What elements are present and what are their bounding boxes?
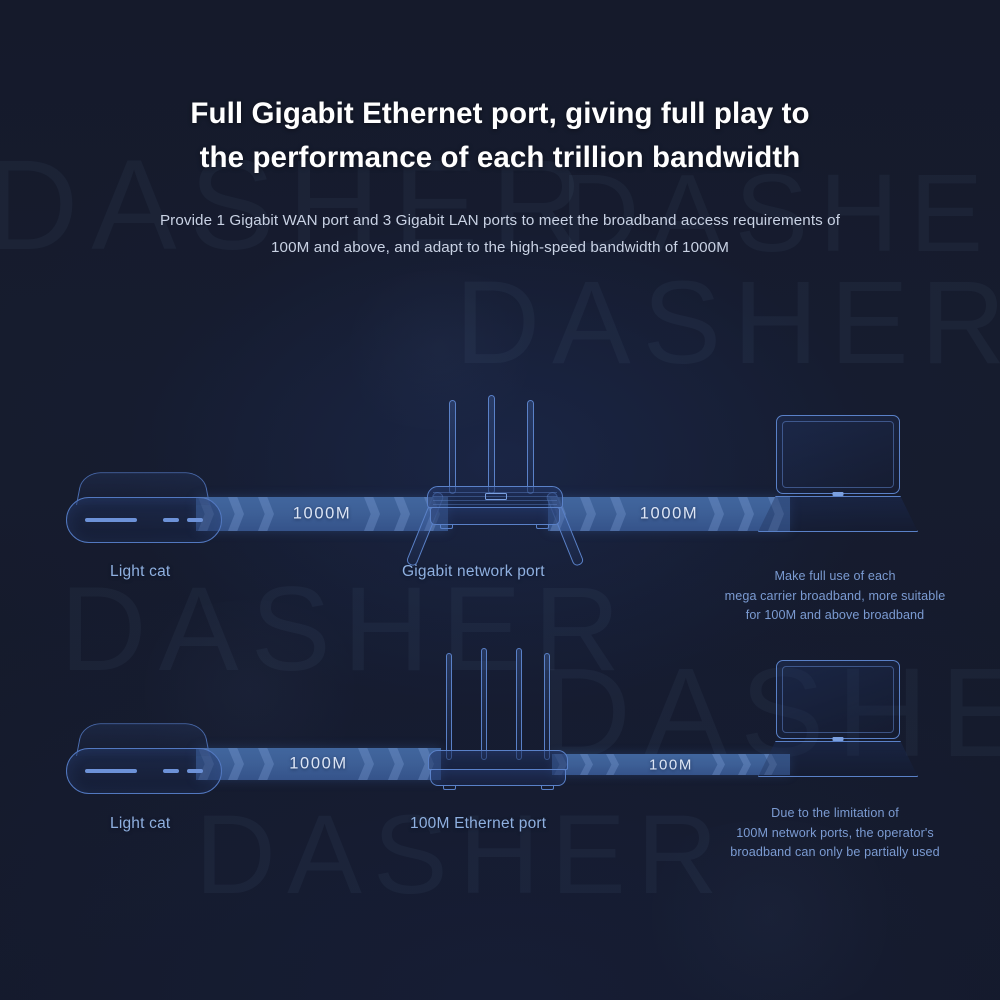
laptop-note-line-1: Due to the limitation of — [670, 804, 1000, 824]
router-antenna-4 — [527, 400, 534, 494]
laptop-screen — [776, 415, 900, 494]
link-speed-label: 1000M — [289, 755, 347, 774]
router-upper-shell — [427, 486, 563, 508]
laptop — [758, 415, 918, 533]
laptop — [758, 660, 918, 778]
router-foot-left — [440, 525, 453, 529]
modem-body — [66, 497, 222, 543]
header: Full Gigabit Ethernet port, giving full … — [0, 0, 1000, 261]
page-title: Full Gigabit Ethernet port, giving full … — [0, 92, 1000, 179]
fast-ethernet-router — [415, 643, 580, 783]
laptop-note-line-3: broadband can only be partially used — [670, 843, 1000, 863]
link-speed-label: 1000M — [293, 505, 351, 524]
gigabit-router — [400, 395, 590, 535]
link-band-right: 100M — [552, 754, 790, 775]
router-upper-shell — [428, 750, 568, 770]
modem-led-long — [85, 518, 137, 522]
fast-ethernet-router-label: 100M Ethernet port — [410, 815, 546, 833]
router-foot-right — [541, 786, 554, 790]
router-foot-right — [536, 525, 549, 529]
router-antenna-2 — [449, 400, 456, 494]
router-antenna-4 — [544, 653, 550, 760]
light-cat-modem — [66, 465, 222, 545]
router-antenna-1 — [446, 653, 452, 760]
light-cat-label: Light cat — [110, 815, 170, 833]
router-logo-badge — [485, 493, 507, 500]
router-foot-left — [443, 786, 456, 790]
laptop-base — [758, 741, 918, 777]
laptop-note-line-2: mega carrier broadband, more suitable — [670, 587, 1000, 607]
title-line-2: the performance of each trillion bandwid… — [0, 136, 1000, 180]
page-subtitle: Provide 1 Gigabit WAN port and 3 Gigabit… — [0, 207, 1000, 261]
link-speed-label: 1000M — [640, 505, 698, 524]
light-cat-modem — [66, 716, 222, 796]
modem-led-short-1 — [163, 769, 179, 773]
laptop-note: Due to the limitation of 100M network po… — [670, 804, 1000, 863]
subtitle-line-2: 100M and above, and adapt to the high-sp… — [0, 234, 1000, 261]
laptop-screen — [776, 660, 900, 739]
laptop-hinge-notch — [833, 492, 844, 496]
gigabit-router-label: Gigabit network port — [402, 563, 545, 581]
laptop-note-line-2: 100M network ports, the operator's — [670, 824, 1000, 844]
diagram-row-gigabit: 1000M 1000M Light cat — [0, 385, 1000, 645]
diagram-row-fast-ethernet: 1000M 100M Light cat 100M Ethernet port — [0, 623, 1000, 883]
light-cat-label: Light cat — [110, 563, 170, 581]
subtitle-line-1: Provide 1 Gigabit WAN port and 3 Gigabit… — [0, 207, 1000, 234]
modem-led-long — [85, 769, 137, 773]
router-antenna-2 — [481, 648, 487, 760]
laptop-base — [758, 496, 918, 532]
laptop-note-line-1: Make full use of each — [670, 567, 1000, 587]
modem-led-short-2 — [187, 769, 203, 773]
router-lower-body — [430, 507, 560, 525]
title-line-1: Full Gigabit Ethernet port, giving full … — [0, 92, 1000, 136]
laptop-hinge-notch — [833, 737, 844, 741]
link-band-left: 1000M — [196, 748, 441, 780]
modem-led-short-1 — [163, 518, 179, 522]
modem-body — [66, 748, 222, 794]
router-lower-body — [430, 769, 566, 786]
router-antenna-3 — [516, 648, 522, 760]
modem-led-short-2 — [187, 518, 203, 522]
router-antenna-3 — [488, 395, 495, 494]
link-speed-label: 100M — [649, 756, 693, 773]
watermark: DASHER — [455, 255, 1000, 391]
laptop-note: Make full use of each mega carrier broad… — [670, 567, 1000, 626]
